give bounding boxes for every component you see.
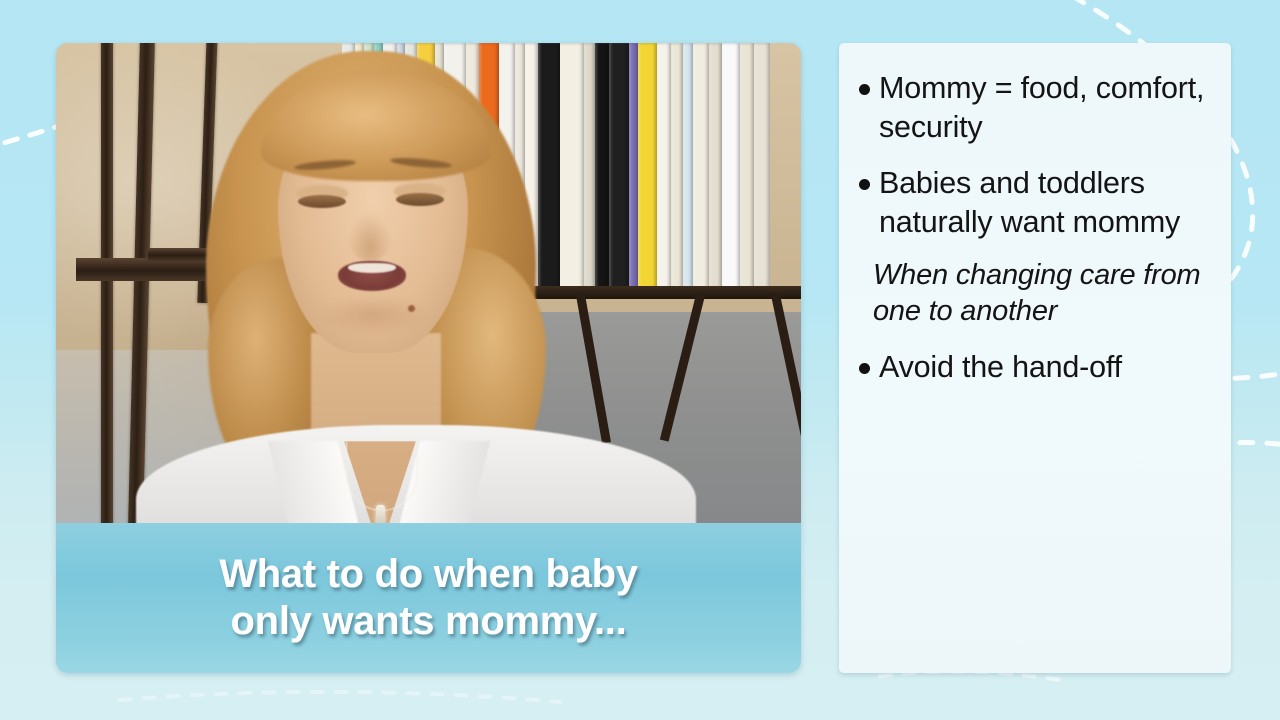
video-frame[interactable] (56, 43, 801, 523)
slide-block-text: Babies and toddlers naturally want mommy (879, 164, 1219, 243)
bullet-points-panel: Mommy = food, comfort, securityBabies an… (839, 43, 1231, 673)
slide-block-text: Mommy = food, comfort, security (879, 69, 1219, 148)
book-spine (754, 43, 770, 293)
speaker-mole (408, 305, 415, 312)
shelf-crossbar (76, 258, 211, 281)
bullet-dot-icon (859, 179, 870, 190)
bullet-dot-icon (859, 84, 870, 95)
book-spine (638, 43, 657, 293)
slide-bullet: Mommy = food, comfort, security (853, 69, 1219, 148)
video-caption-bar: What to do when baby only wants mommy... (56, 523, 801, 673)
book-spine (709, 43, 722, 293)
book-spine (560, 43, 584, 293)
speaker-eye-right (396, 193, 444, 206)
book-spine (722, 43, 740, 293)
book-spine (683, 43, 693, 293)
speaker-eye-left (298, 195, 346, 208)
book-spine (538, 43, 560, 293)
speaker-necklace-pendant (376, 505, 385, 523)
speaker-teeth (348, 263, 396, 273)
slide-bullet: Avoid the hand-off (853, 348, 1219, 387)
slide-block-text: When changing care from one to another (873, 258, 1219, 329)
book-spine (740, 43, 754, 293)
video-caption-text: What to do when baby only wants mommy... (199, 551, 657, 645)
slide-stage: What to do when baby only wants mommy...… (0, 0, 1280, 720)
speaker-necklace-chain (346, 438, 418, 511)
bullet-dot-icon (859, 363, 870, 374)
book-spine (584, 43, 595, 293)
speaker-chin-shadow (318, 295, 428, 335)
video-card[interactable]: What to do when baby only wants mommy... (56, 43, 801, 673)
speaker-nose (348, 213, 392, 261)
book-spine (629, 43, 638, 293)
slide-subhead: When changing care from one to another (853, 258, 1219, 329)
book-spine (671, 43, 683, 293)
book-spine (609, 43, 629, 293)
slide-block-text: Avoid the hand-off (879, 348, 1122, 387)
book-spine (657, 43, 671, 293)
book-spine (693, 43, 709, 293)
shelf-post-1 (101, 43, 113, 523)
book-spine (595, 43, 609, 293)
slide-bullet: Babies and toddlers naturally want mommy (853, 164, 1219, 243)
